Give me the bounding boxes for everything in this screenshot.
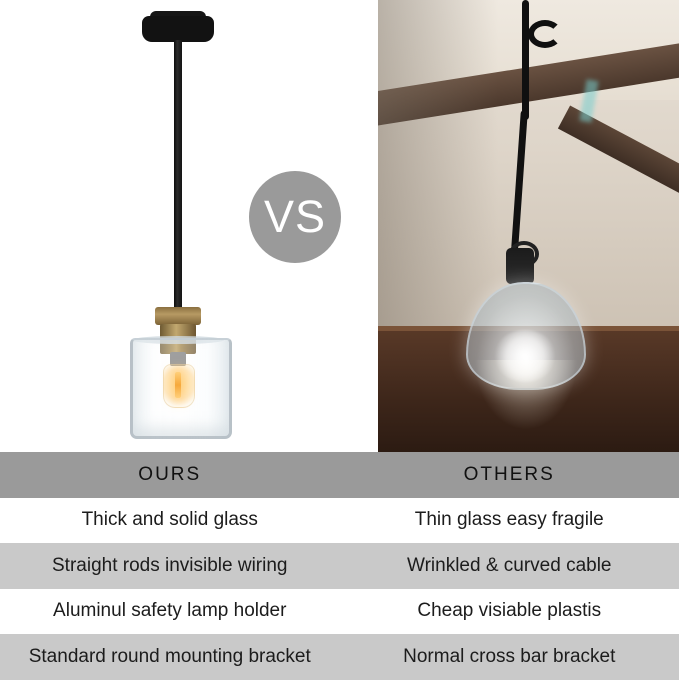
straight-rod bbox=[174, 40, 182, 310]
bulb-glow bbox=[494, 330, 556, 382]
table-header-row: OURS OTHERS bbox=[0, 452, 679, 498]
table-row: Aluminul safety lamp holder Cheap visiab… bbox=[0, 589, 679, 635]
header-cell-ours: OURS bbox=[0, 452, 340, 498]
cell-ours-2: Straight rods invisible wiring bbox=[0, 543, 340, 589]
round-mounting-canopy bbox=[142, 16, 214, 42]
comparison-table: OURS OTHERS Thick and solid glass Thin g… bbox=[0, 452, 679, 679]
table-row: Thick and solid glass Thin glass easy fr… bbox=[0, 498, 679, 544]
brass-socket-collar bbox=[155, 307, 201, 325]
cell-ours-3: Aluminul safety lamp holder bbox=[0, 589, 340, 635]
photo-area: VS bbox=[0, 0, 679, 452]
cell-others-2: Wrinkled & curved cable bbox=[340, 543, 679, 589]
others-pendant-light-photo bbox=[378, 0, 679, 452]
cell-ours-4: Standard round mounting bracket bbox=[0, 634, 340, 680]
vs-badge-label: VS bbox=[264, 191, 326, 243]
bulb-filament bbox=[175, 372, 181, 398]
hanging-cable-upper bbox=[522, 0, 529, 120]
cell-others-3: Cheap visiable plastis bbox=[340, 589, 679, 635]
cell-others-4: Normal cross bar bracket bbox=[340, 634, 679, 680]
header-cell-others: OTHERS bbox=[340, 452, 679, 498]
table-row: Straight rods invisible wiring Wrinkled … bbox=[0, 543, 679, 589]
plastic-lamp-holder bbox=[506, 248, 534, 284]
cable-kink bbox=[528, 20, 562, 48]
table-row: Standard round mounting bracket Normal c… bbox=[0, 634, 679, 680]
vs-badge: VS bbox=[249, 171, 341, 263]
cell-ours-1: Thick and solid glass bbox=[0, 498, 340, 544]
cell-others-1: Thin glass easy fragile bbox=[340, 498, 679, 544]
comparison-infographic: VS OURS OTHERS Thick and solid bbox=[0, 0, 679, 679]
wall-shadow bbox=[378, 0, 498, 330]
